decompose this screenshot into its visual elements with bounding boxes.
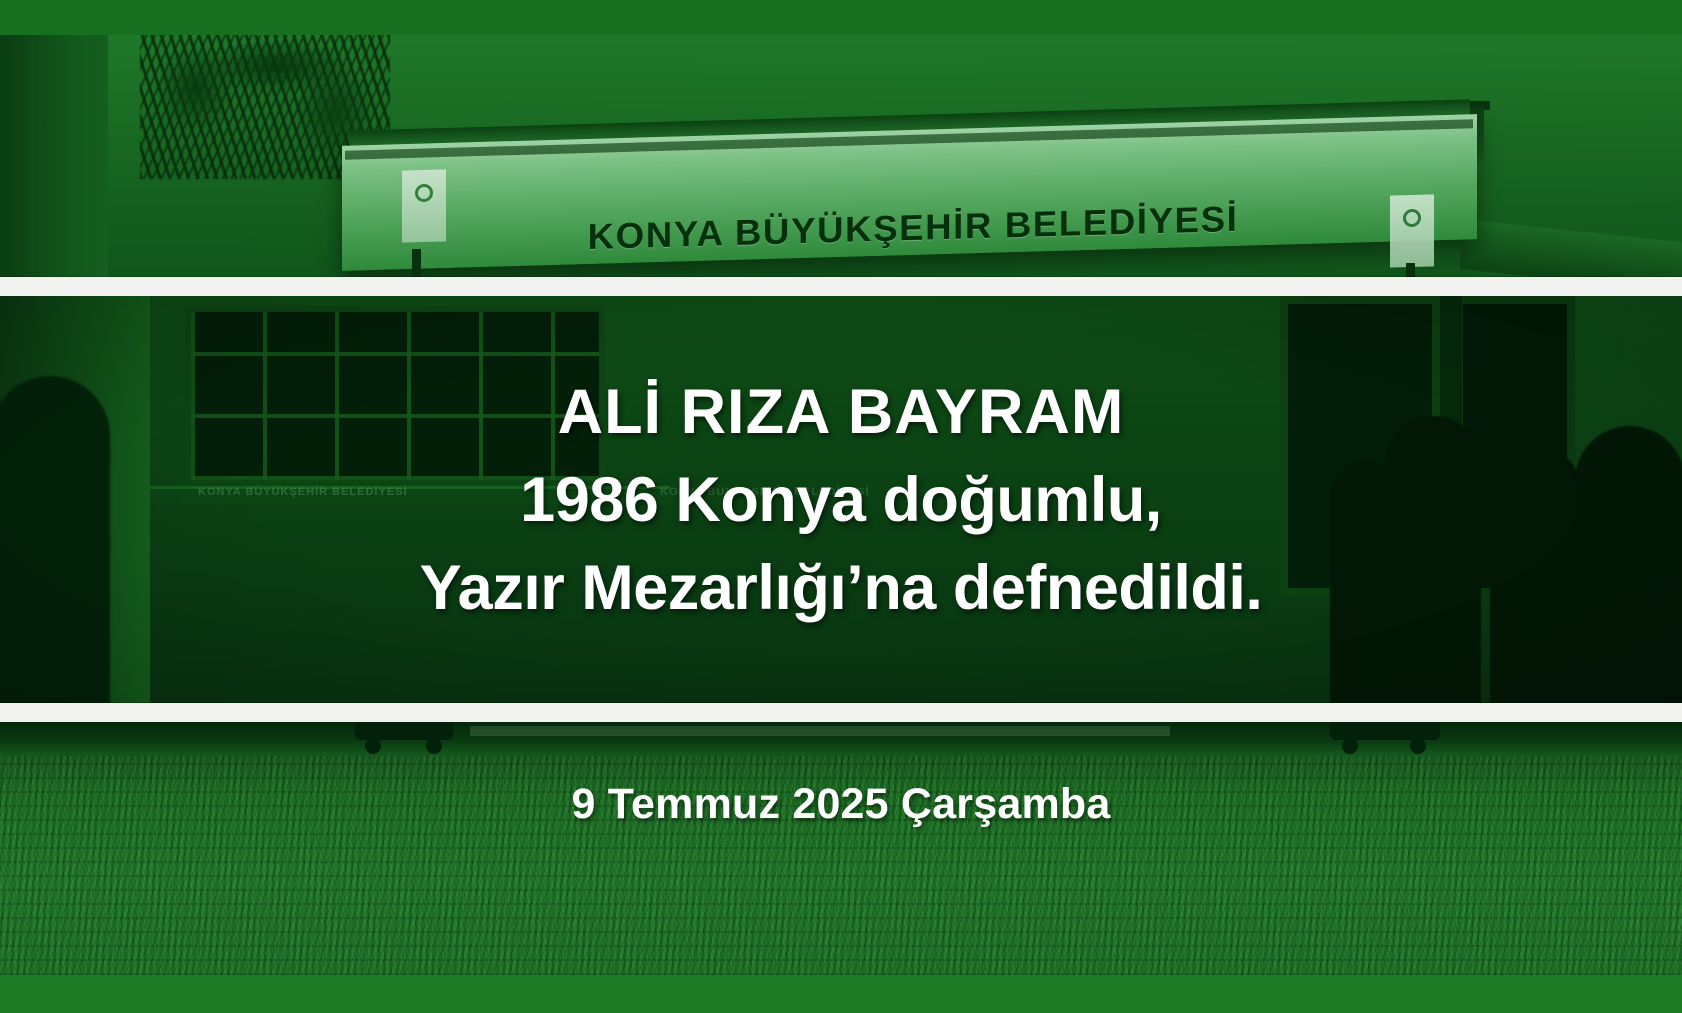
bottom-shelf-highlight: [470, 726, 1170, 736]
catafalque-base-right: [1330, 722, 1440, 740]
divider-top: [0, 277, 1682, 296]
middle-photo-band: KONYA BÜYÜKŞEHİR BELEDİYESİ KONYA BÜYÜKŞ…: [0, 296, 1682, 703]
obituary-poster: KONYA BÜYÜKŞEHİR BELEDİYESİ KONYA BÜYÜKŞ…: [0, 0, 1682, 1013]
wheel-icon: [365, 738, 381, 754]
municipality-emblem-icon: [1403, 209, 1421, 228]
divider-bottom: [0, 703, 1682, 722]
bottom-solid-strip: [0, 975, 1682, 1013]
bottom-photo-band: 9 Temmuz 2025 Çarşamba: [0, 722, 1682, 1013]
coffin-stand-leg: [1406, 263, 1415, 277]
wheel-icon: [426, 738, 442, 754]
carpet-noise-overlay: [0, 722, 1682, 975]
coffin-stand-leg: [412, 249, 421, 277]
top-left-column: [0, 35, 108, 277]
municipality-emblem-icon: [415, 184, 433, 203]
coffin-plaque-right: [1390, 194, 1434, 267]
funeral-date: 9 Temmuz 2025 Çarşamba: [0, 780, 1682, 829]
wheel-icon: [1410, 738, 1426, 754]
top-photo-band: KONYA BÜYÜKŞEHİR BELEDİYESİ: [0, 35, 1682, 277]
catafalque-base-left: [355, 722, 453, 740]
burial-info: Yazır Mezarlığı’na defnedildi.: [420, 544, 1263, 632]
birth-info: 1986 Konya doğumlu,: [520, 456, 1162, 544]
deceased-name: ALİ RIZA BAYRAM: [558, 368, 1125, 456]
headline-block: ALİ RIZA BAYRAM 1986 Konya doğumlu, Yazı…: [0, 296, 1682, 703]
wheel-icon: [1342, 738, 1358, 754]
coffin-plaque-left: [402, 169, 446, 242]
